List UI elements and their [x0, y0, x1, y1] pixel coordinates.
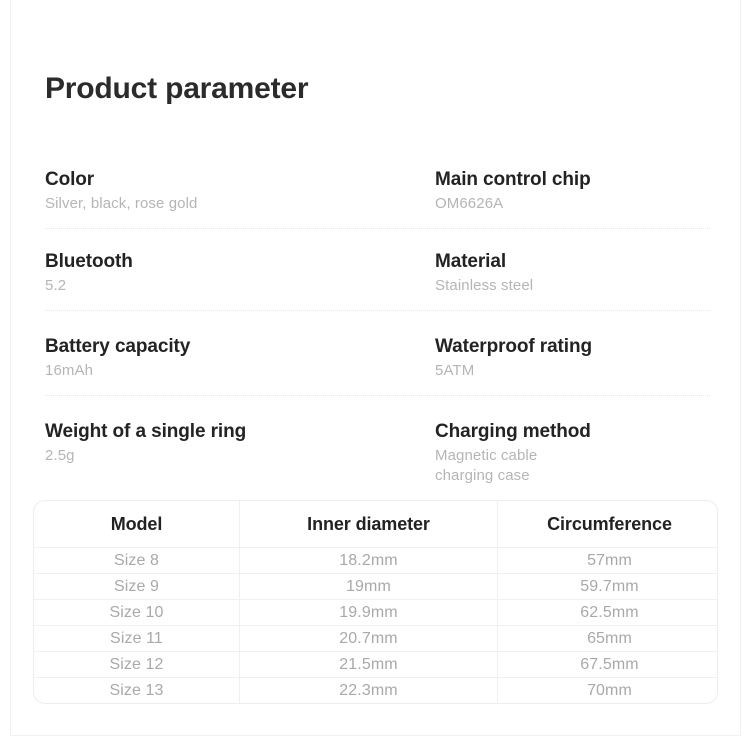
- spec-row: Bluetooth 5.2 Material Stainless steel: [0, 228, 750, 310]
- spec-list: Color Silver, black, rose gold Main cont…: [0, 168, 750, 475]
- spec-value: 16mAh: [45, 361, 425, 381]
- cell-inner-diameter: 19mm: [240, 574, 498, 600]
- spec-row: Weight of a single ring 2.5g Charging me…: [0, 395, 750, 475]
- cell-circumference: 70mm: [498, 678, 719, 704]
- spec-value: OM6626A: [435, 194, 725, 214]
- spec-value: Stainless steel: [435, 276, 725, 296]
- cell-circumference: 65mm: [498, 626, 719, 652]
- cell-inner-diameter: 18.2mm: [240, 548, 498, 574]
- cell-inner-diameter: 19.9mm: [240, 600, 498, 626]
- spec-value: Silver, black, rose gold: [45, 194, 425, 214]
- table-row: Size 12 21.5mm 67.5mm: [34, 652, 718, 678]
- column-header-inner-diameter: Inner diameter: [240, 501, 498, 548]
- page-border-bottom: [10, 735, 741, 736]
- spec-value: 2.5g: [45, 446, 425, 466]
- table-header-row: Model Inner diameter Circumference: [34, 501, 718, 548]
- spec-label: Charging method: [435, 420, 725, 443]
- spec-item-battery-capacity: Battery capacity 16mAh: [45, 335, 425, 381]
- table-row: Size 8 18.2mm 57mm: [34, 548, 718, 574]
- spec-label: Battery capacity: [45, 335, 425, 358]
- table-row: Size 11 20.7mm 65mm: [34, 626, 718, 652]
- cell-model: Size 12: [34, 652, 240, 678]
- table-body: Size 8 18.2mm 57mm Size 9 19mm 59.7mm Si…: [34, 548, 718, 704]
- spec-item-material: Material Stainless steel: [435, 250, 725, 296]
- spec-value: 5ATM: [435, 361, 725, 381]
- spec-item-weight-of-a-single-ring: Weight of a single ring 2.5g: [45, 420, 425, 466]
- cell-circumference: 67.5mm: [498, 652, 719, 678]
- cell-inner-diameter: 22.3mm: [240, 678, 498, 704]
- spec-item-color: Color Silver, black, rose gold: [45, 168, 425, 214]
- spec-label: Main control chip: [435, 168, 725, 191]
- spec-label: Waterproof rating: [435, 335, 725, 358]
- spec-label: Bluetooth: [45, 250, 425, 273]
- cell-model: Size 8: [34, 548, 240, 574]
- cell-model: Size 11: [34, 626, 240, 652]
- cell-circumference: 59.7mm: [498, 574, 719, 600]
- table-row: Size 9 19mm 59.7mm: [34, 574, 718, 600]
- cell-model: Size 10: [34, 600, 240, 626]
- column-header-circumference: Circumference: [498, 501, 719, 548]
- cell-inner-diameter: 21.5mm: [240, 652, 498, 678]
- spec-label: Material: [435, 250, 725, 273]
- cell-inner-diameter: 20.7mm: [240, 626, 498, 652]
- cell-circumference: 57mm: [498, 548, 719, 574]
- spec-label: Color: [45, 168, 425, 191]
- spec-item-charging-method: Charging method Magnetic cable charging …: [435, 420, 725, 485]
- spec-row: Color Silver, black, rose gold Main cont…: [0, 168, 750, 228]
- spec-item-bluetooth: Bluetooth 5.2: [45, 250, 425, 296]
- spec-row: Battery capacity 16mAh Waterproof rating…: [0, 310, 750, 395]
- spec-value: 5.2: [45, 276, 425, 296]
- spec-label: Weight of a single ring: [45, 420, 425, 443]
- table-row: Size 10 19.9mm 62.5mm: [34, 600, 718, 626]
- spec-item-main-control-chip: Main control chip OM6626A: [435, 168, 725, 214]
- cell-circumference: 62.5mm: [498, 600, 719, 626]
- column-header-model: Model: [34, 501, 240, 548]
- table-row: Size 13 22.3mm 70mm: [34, 678, 718, 704]
- spec-item-waterproof-rating: Waterproof rating 5ATM: [435, 335, 725, 381]
- product-parameter-page: Product parameter Color Silver, black, r…: [0, 0, 750, 750]
- page-title: Product parameter: [45, 70, 445, 107]
- size-chart-table: Model Inner diameter Circumference Size …: [33, 500, 718, 704]
- cell-model: Size 13: [34, 678, 240, 704]
- spec-value: Magnetic cable charging case: [435, 446, 725, 485]
- cell-model: Size 9: [34, 574, 240, 600]
